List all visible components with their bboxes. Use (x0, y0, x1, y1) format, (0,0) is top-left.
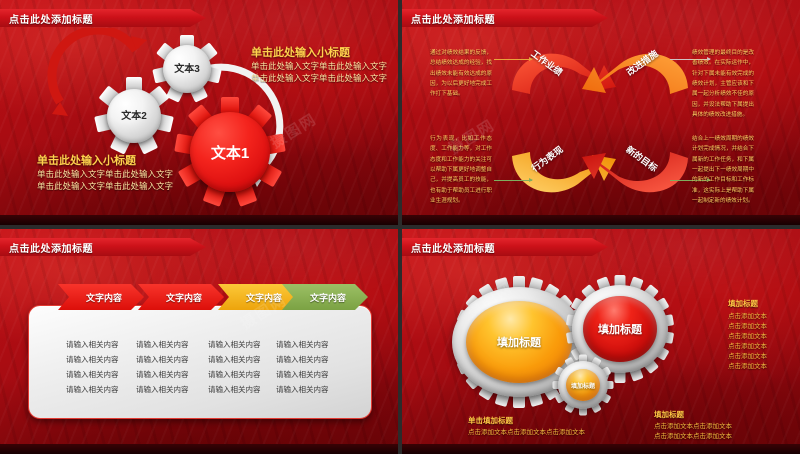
page-title: 点击此处添加标题 (411, 240, 495, 255)
slide-panel-infinity-arrows[interactable]: 点击此处添加标题 摄图网 (402, 0, 800, 225)
table-cell: 请输入相关内容 (276, 354, 329, 365)
chevron-step-2[interactable]: 文字内容 (138, 284, 224, 310)
gear-label-1: 文本1 (176, 142, 284, 163)
slide-grid: 点击此处添加标题 摄图网 文本3 文本2 文本1 单击此处输入小标题 单 (0, 0, 800, 454)
side-list-item[interactable]: 点击添加文本 (728, 340, 767, 350)
slide-panel-mechanical-gears[interactable]: 点击此处添加标题 摄图网 填加标题 填加标题 填加标题 填加标题 点击添加文本 … (402, 229, 800, 454)
table-cell: 请输入相关内容 (66, 339, 119, 350)
table-cell: 请输入相关内容 (66, 384, 119, 395)
side-list-heading: 填加标题 (728, 298, 758, 309)
text-block-top-right: 绩效管理的最终目的是改善绩效。在实际运作中，针对下属未能有效完成的绩效计划，主管… (692, 48, 754, 120)
chevron-label-2: 文字内容 (160, 291, 202, 304)
table-cell: 请输入相关内容 (136, 384, 189, 395)
page-title: 点击此处添加标题 (9, 11, 93, 26)
page-title: 点击此处添加标题 (9, 240, 93, 255)
caption-line-right-2: 点击添加文本点击添加文本 (654, 430, 732, 440)
table-cell: 请输入相关内容 (136, 369, 189, 380)
table-cell: 请输入相关内容 (66, 354, 119, 365)
gear-medium-label: 填加标题 (598, 321, 642, 337)
gear-label-3: 文本3 (154, 60, 220, 75)
side-list-item[interactable]: 点击添加文本 (728, 310, 767, 320)
chevron-label-4: 文字内容 (304, 291, 346, 304)
callout-heading-bottom: 单击此处输入小标题 (37, 152, 136, 168)
callout-heading-top: 单击此处输入小标题 (251, 44, 350, 60)
table-cell: 请输入相关内容 (208, 339, 261, 350)
table-cell: 请输入相关内容 (66, 369, 119, 380)
caption-heading-right: 填加标题 (654, 409, 684, 420)
gear-shape-1[interactable]: 文本1 (176, 98, 284, 206)
callout-line-top-2: 单击此处输入文字单击此处输入文字 (251, 72, 387, 84)
side-list-item[interactable]: 点击添加文本 (728, 360, 767, 370)
table-cell: 请输入相关内容 (208, 354, 261, 365)
text-block-bottom-right: 结合上一绩效周期的绩效计划完成情况，并结合下属新的工作任务，和下属一起提出下一绩… (692, 134, 754, 206)
slide-panel-gears-cycle[interactable]: 点击此处添加标题 摄图网 文本3 文本2 文本1 单击此处输入小标题 单 (0, 0, 398, 225)
chevron-step-1[interactable]: 文字内容 (58, 284, 144, 310)
slide-panel-chevron-table[interactable]: 点击此处添加标题 摄图网 文字内容 文字内容 文字内容 文字内容 请输入相关内容… (0, 229, 398, 454)
caption-line-right-1: 点击添加文本点击添加文本 (654, 420, 732, 430)
table-cell: 请输入相关内容 (208, 384, 261, 395)
callout-line-bottom-1: 单击此处输入文字单击此处输入文字 (37, 168, 173, 180)
panel-title-banner: 点击此处添加标题 (0, 238, 206, 256)
page-title: 点击此处添加标题 (411, 11, 495, 26)
connector-bottom-left (494, 180, 532, 181)
table-cell: 请输入相关内容 (276, 369, 329, 380)
panel-title-banner: 点击此处添加标题 (402, 9, 608, 27)
gear-small[interactable]: 填加标题 (554, 357, 612, 413)
side-list-item[interactable]: 点击添加文本 (728, 320, 767, 330)
chevron-label-1: 文字内容 (80, 291, 122, 304)
table-cell: 请输入相关内容 (136, 339, 189, 350)
chevron-label-3: 文字内容 (240, 291, 282, 304)
infinity-arrow-diagram (500, 38, 700, 208)
table-cell: 请输入相关内容 (276, 339, 329, 350)
caption-heading-left: 单击填加标题 (468, 415, 513, 426)
connector-top-left (494, 59, 532, 60)
gear-small-core: 填加标题 (566, 369, 600, 401)
side-list-item[interactable]: 点击添加文本 (728, 330, 767, 340)
table-cell: 请输入相关内容 (276, 384, 329, 395)
table-cell: 请输入相关内容 (136, 354, 189, 365)
caption-line-left: 点击添加文本点击添加文本点击添加文本 (468, 426, 585, 436)
gear-small-label: 填加标题 (571, 381, 595, 390)
panel-title-banner: 点击此处添加标题 (402, 238, 608, 256)
callout-line-bottom-2: 单击此处输入文字单击此处输入文字 (37, 180, 173, 192)
gear-medium-core: 填加标题 (583, 296, 657, 362)
table-cell: 请输入相关内容 (208, 369, 261, 380)
text-block-top-left: 通过对绩效结果的反馈，总结绩效达成的经验，找出绩效未能有效达成的原因，为以后更好… (430, 48, 492, 100)
gear-large-label: 填加标题 (497, 334, 541, 350)
panel-title-banner: 点击此处添加标题 (0, 9, 206, 27)
gear-shape-2[interactable]: 文本2 (97, 79, 171, 153)
gear-label-2: 文本2 (97, 107, 171, 122)
chevron-step-4[interactable]: 文字内容 (282, 284, 368, 310)
text-block-bottom-left: 行为表现，比如工作态度、工作能力等，对工作态度和工作能力的关注可以帮助下属更好地… (430, 134, 492, 206)
side-list-item[interactable]: 点击添加文本 (728, 350, 767, 360)
callout-line-top-1: 单击此处输入文字单击此处输入文字 (251, 60, 387, 72)
